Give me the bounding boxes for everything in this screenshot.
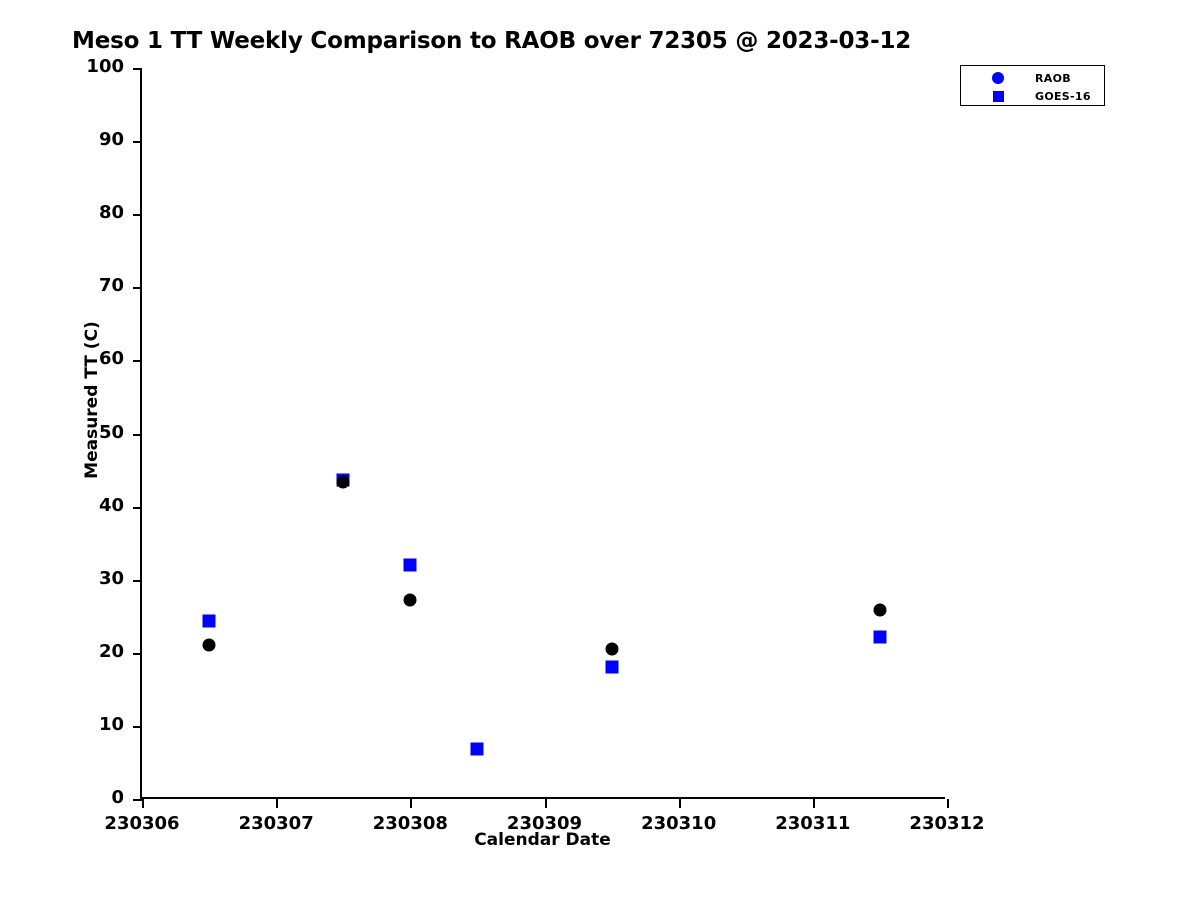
legend: RAOBGOES-16 xyxy=(960,65,1105,106)
data-point-goes-16 xyxy=(605,660,618,673)
y-axis-tick-label: 40 xyxy=(4,495,124,516)
y-axis-tick xyxy=(133,434,142,436)
data-point-raob xyxy=(404,594,417,607)
plot-area: 0102030405060708090100230306230307230308… xyxy=(140,68,945,799)
y-axis-tick xyxy=(133,580,142,582)
legend-symbol-wrap xyxy=(961,72,1035,84)
y-axis-tick-label: 100 xyxy=(4,56,124,77)
data-point-goes-16 xyxy=(203,614,216,627)
legend-square-icon xyxy=(993,91,1004,102)
legend-symbol-wrap xyxy=(961,91,1035,102)
page-title: Meso 1 TT Weekly Comparison to RAOB over… xyxy=(72,28,911,54)
x-axis-tick xyxy=(545,799,547,808)
legend-label: GOES-16 xyxy=(1035,90,1091,103)
legend-item-raob[interactable]: RAOB xyxy=(961,68,1104,88)
y-axis-tick-label: 90 xyxy=(4,129,124,150)
data-point-raob xyxy=(337,475,350,488)
legend-circle-icon xyxy=(992,72,1004,84)
y-axis-tick xyxy=(133,653,142,655)
x-axis-tick xyxy=(142,799,144,808)
y-axis-tick-label: 60 xyxy=(4,348,124,369)
y-axis-tick xyxy=(133,68,142,70)
y-axis-tick xyxy=(133,799,142,801)
x-axis-tick xyxy=(276,799,278,808)
y-axis-tick-label: 20 xyxy=(4,641,124,662)
data-point-raob xyxy=(873,604,886,617)
y-axis-tick xyxy=(133,507,142,509)
legend-item-goes-16[interactable]: GOES-16 xyxy=(961,86,1104,106)
y-axis-tick xyxy=(133,287,142,289)
y-axis-label: Measured TT (C) xyxy=(82,290,102,510)
plot-inner xyxy=(142,68,945,797)
y-axis-tick-label: 10 xyxy=(4,714,124,735)
x-axis-tick xyxy=(679,799,681,808)
y-axis-tick-label: 30 xyxy=(4,568,124,589)
y-axis-tick xyxy=(133,214,142,216)
x-axis-tick xyxy=(410,799,412,808)
legend-label: RAOB xyxy=(1035,72,1071,85)
data-point-goes-16 xyxy=(471,742,484,755)
chart-page: Meso 1 TT Weekly Comparison to RAOB over… xyxy=(0,0,1200,900)
data-point-goes-16 xyxy=(873,631,886,644)
y-axis-tick-label: 0 xyxy=(4,787,124,808)
y-axis-tick xyxy=(133,360,142,362)
x-axis-tick xyxy=(947,799,949,808)
y-axis-tick xyxy=(133,726,142,728)
x-axis-tick xyxy=(813,799,815,808)
data-point-raob xyxy=(203,639,216,652)
data-point-goes-16 xyxy=(404,559,417,572)
x-axis-label: Calendar Date xyxy=(140,830,945,850)
y-axis-tick xyxy=(133,141,142,143)
y-axis-tick-label: 50 xyxy=(4,422,124,443)
y-axis-tick-label: 80 xyxy=(4,202,124,223)
data-point-raob xyxy=(605,643,618,656)
y-axis-tick-label: 70 xyxy=(4,275,124,296)
